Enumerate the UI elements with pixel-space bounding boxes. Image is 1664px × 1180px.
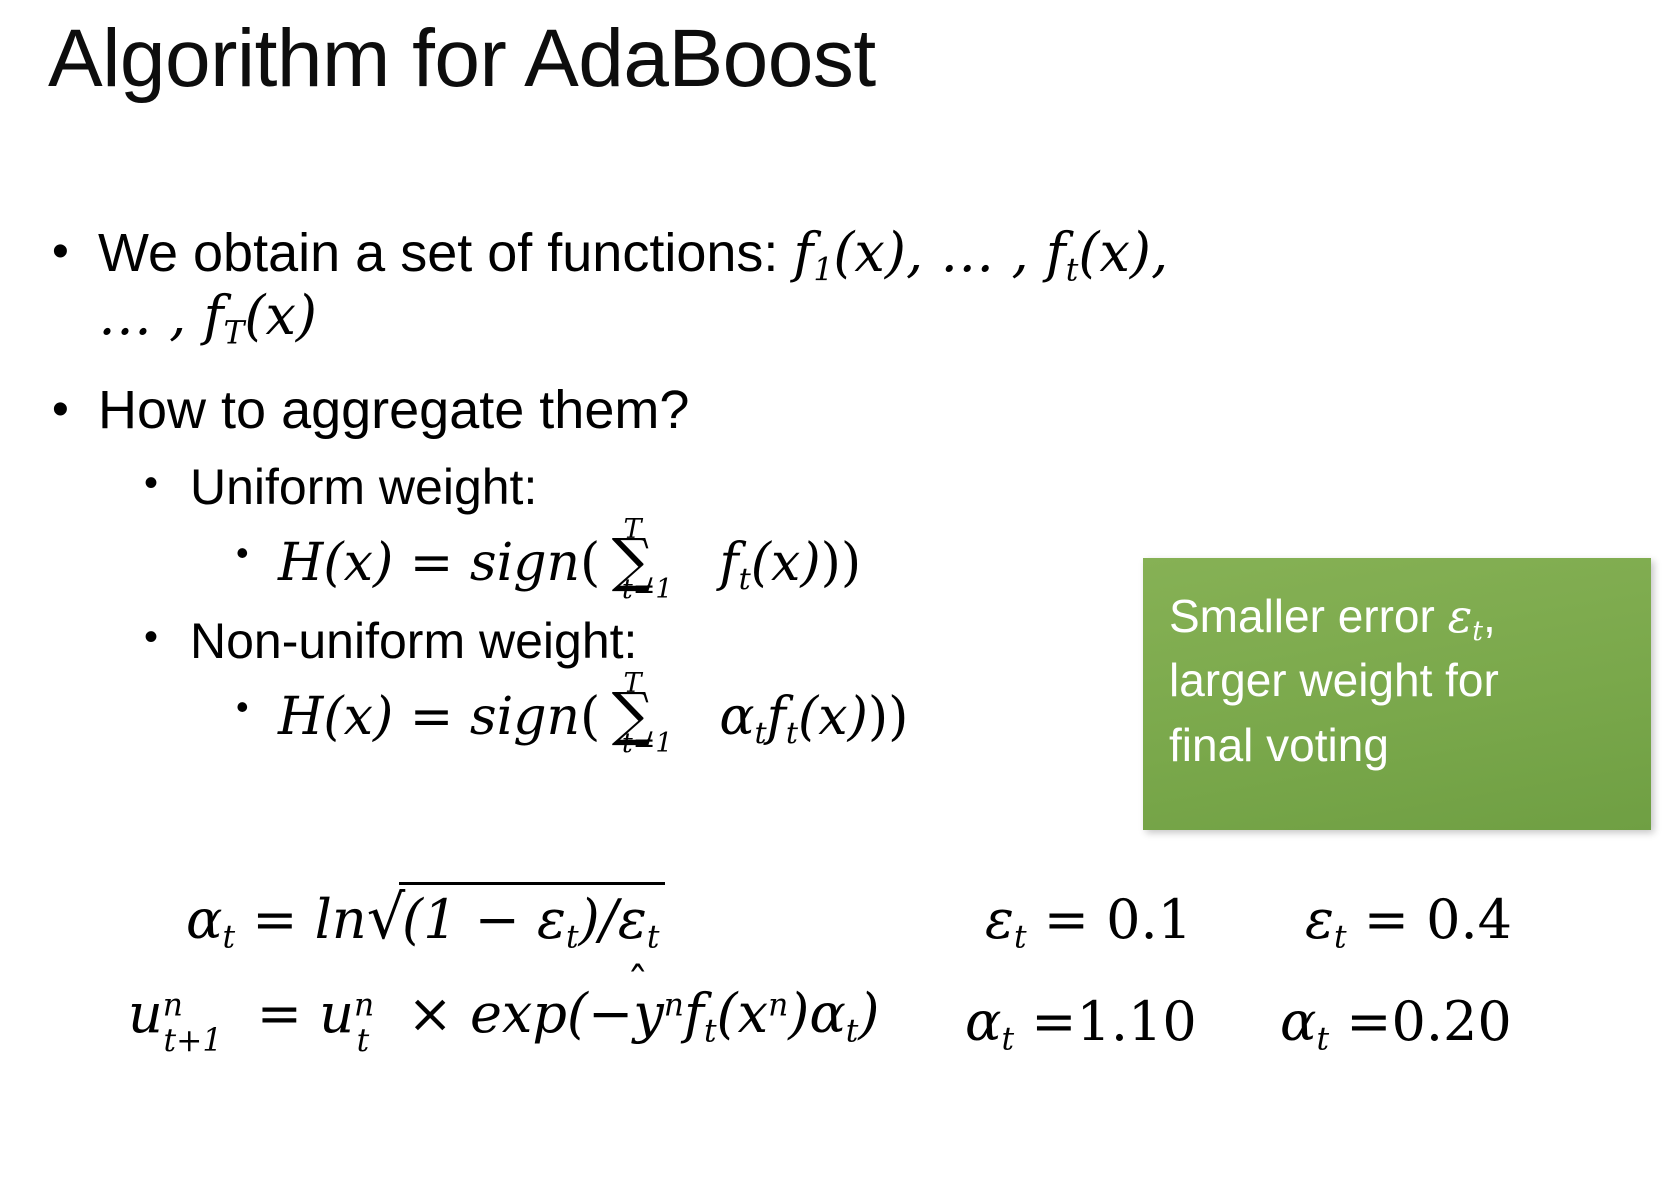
sub-bullet-uniform-weight-label: Uniform weight: <box>190 459 537 515</box>
bullet-dot-icon: • <box>144 460 158 506</box>
page-title: Algorithm for AdaBoost <box>48 18 876 100</box>
bullet-dot-icon: • <box>144 614 158 660</box>
bullet-dot-icon: • <box>236 685 249 728</box>
sub-bullet-nonuniform-weight-label: Non-uniform weight: <box>190 613 637 669</box>
formula-weight-update: unt+1 = unt × exp(−̂ynft(xn)αt) <box>128 982 879 1045</box>
summation-symbol: ∑Tt=1 <box>600 680 664 750</box>
functions-math-line1: f1(x), … , ft(x), <box>793 221 1168 284</box>
callout-line-3: final voting <box>1169 713 1625 777</box>
callout-line-1: Smaller error εt, <box>1169 584 1625 648</box>
formula-h-uniform-math: H(x) = sign(∑Tt=1ft(x))) <box>278 533 861 593</box>
summation-symbol: ∑Tt=1 <box>600 526 664 596</box>
functions-math-line2: … , fT(x) <box>98 285 1460 347</box>
bullet-aggregate-text: How to aggregate them? <box>98 380 689 440</box>
bullet-functions: • We obtain a set of functions: f1(x), …… <box>40 222 1460 346</box>
callout-epsilon: εt <box>1448 589 1483 643</box>
formula-h-weighted-math: H(x) = sign(∑Tt=1αtft(x))) <box>278 687 908 747</box>
example-1-epsilon: εt = 0.1 <box>985 888 1192 951</box>
bullet-dot-icon: • <box>236 531 249 574</box>
y-hat-symbol: ̂y <box>633 982 664 1045</box>
square-root-icon: √(1 − εt)/εt <box>367 882 665 953</box>
bullet-aggregate: • How to aggregate them? <box>40 380 1460 442</box>
bullet-dot-icon: • <box>52 383 69 438</box>
bullet-functions-text: We obtain a set of functions: <box>98 223 793 283</box>
callout-box-smaller-error: Smaller error εt, larger weight for fina… <box>1143 558 1651 830</box>
bullet-dot-icon: • <box>52 225 69 280</box>
example-2-epsilon: εt = 0.4 <box>1305 888 1512 951</box>
example-2-alpha: αt =0.20 <box>1280 990 1512 1053</box>
callout-line-2: larger weight for <box>1169 648 1625 712</box>
formula-alpha-definition: αt = ln√(1 − εt)/εt <box>186 882 665 953</box>
example-1-alpha: αt =1.10 <box>965 990 1197 1053</box>
sub-bullet-uniform-weight: • Uniform weight: <box>40 458 1460 516</box>
slide-canvas: Algorithm for AdaBoost • We obtain a set… <box>0 0 1664 1180</box>
